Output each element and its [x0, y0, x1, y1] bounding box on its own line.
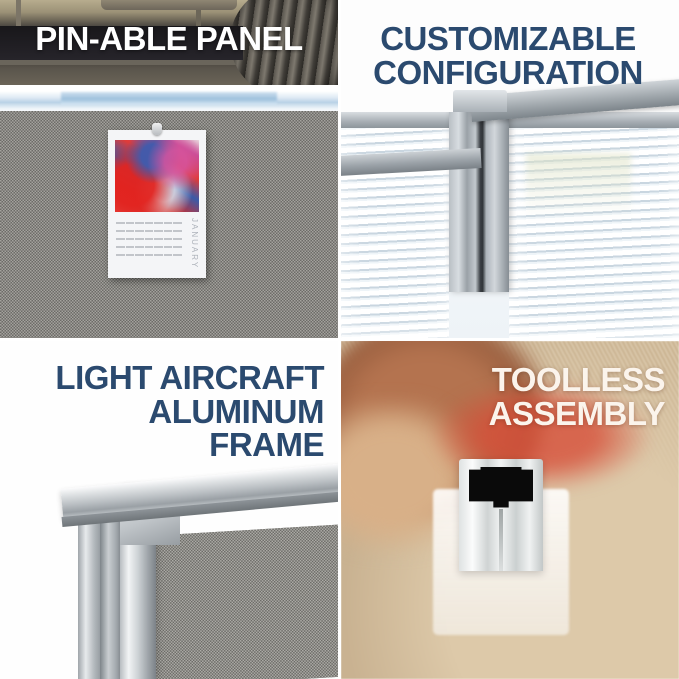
- feature-collage: JANUARY PIN-ABLE PANEL CUSTOMIZABLE CONF…: [0, 0, 679, 679]
- tackable-fabric-surface: JANUARY: [0, 111, 338, 338]
- caption-line-1: CUSTOMIZABLE: [380, 20, 636, 57]
- caption-line-2: ASSEMBLY: [489, 395, 665, 432]
- panel-pin-able: JANUARY PIN-ABLE PANEL: [0, 0, 338, 338]
- panel-customizable-configuration: CUSTOMIZABLE CONFIGURATION: [341, 0, 679, 338]
- caption-line-2: ALUMINUM: [148, 393, 324, 430]
- calendar-artwork: [115, 140, 199, 212]
- caption-line-1: TOOLLESS: [492, 361, 665, 398]
- window-blinds-left: [341, 112, 449, 338]
- post-seam: [499, 509, 503, 571]
- caption-pin-able-panel: PIN-ABLE PANEL: [0, 22, 338, 56]
- caption-customizable-configuration: CUSTOMIZABLE CONFIGURATION: [349, 22, 667, 89]
- window-blinds-right: [509, 112, 679, 338]
- calendar-month-label: JANUARY: [190, 218, 199, 269]
- caption-toolless-assembly: TOOLLESS ASSEMBLY: [351, 363, 665, 430]
- aluminum-post: [449, 112, 509, 292]
- push-pin-icon: [152, 123, 162, 135]
- panel-light-aircraft-aluminum-frame: LIGHT AIRCRAFT ALUMINUM FRAME: [0, 341, 338, 679]
- duct-icon: [101, 0, 236, 10]
- calendar-date-grid: [116, 220, 182, 264]
- pinned-calendar: JANUARY: [108, 130, 206, 278]
- post-cap: [453, 90, 507, 112]
- frame-fabric-infill: [130, 524, 338, 679]
- caption-light-aircraft-aluminum-frame: LIGHT AIRCRAFT ALUMINUM FRAME: [6, 361, 324, 462]
- caption-line-1: LIGHT AIRCRAFT: [55, 359, 324, 396]
- glass-partition-photo: [341, 112, 679, 338]
- caption-line-2: CONFIGURATION: [373, 54, 643, 91]
- fluorescent-light-band: [0, 85, 338, 113]
- caption-line-3: FRAME: [209, 426, 324, 463]
- panel-toolless-assembly: TOOLLESS ASSEMBLY: [341, 341, 679, 679]
